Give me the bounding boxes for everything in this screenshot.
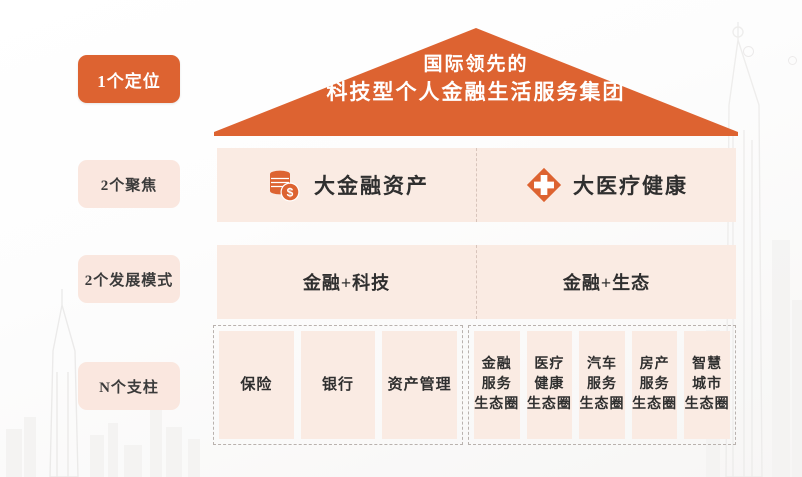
pillar-group-core-business: 保险 银行 资产管理 bbox=[213, 325, 463, 445]
pillar-label: 银行 bbox=[322, 375, 354, 395]
focus-cell-health-care[interactable]: 大医疗健康 bbox=[477, 148, 736, 222]
pillar-banking[interactable]: 银行 bbox=[301, 331, 376, 439]
sidebar-tag-label: 2个聚焦 bbox=[101, 174, 158, 195]
sparkle-dot-2 bbox=[788, 56, 797, 65]
pillar-financial-services-ecosystem[interactable]: 金融 服务 生态圈 bbox=[474, 331, 520, 439]
sidebar-tag-label: 2个发展模式 bbox=[85, 269, 174, 290]
pillar-label: 智慧 城市 生态圈 bbox=[685, 355, 730, 416]
mode-cell-fintech[interactable]: 金融+科技 bbox=[217, 245, 477, 319]
strategy-house-diagram: 1个定位 2个聚焦 2个发展模式 N个支柱 国际领先的 科技型个人金融生活服务集… bbox=[0, 0, 802, 477]
medical-cross-icon bbox=[525, 166, 563, 204]
svg-text:$: $ bbox=[287, 186, 294, 200]
sidebar-tag-label: 1个定位 bbox=[97, 67, 161, 92]
sparkle-dot-1 bbox=[743, 46, 754, 57]
pillar-health-care-ecosystem[interactable]: 医疗 健康 生态圈 bbox=[527, 331, 573, 439]
mode-label-ecosystem: 金融+生态 bbox=[563, 269, 650, 295]
pillar-label: 汽车 服务 生态圈 bbox=[579, 355, 624, 416]
pillar-label: 医疗 健康 生态圈 bbox=[527, 355, 572, 416]
sidebar-tag-label: N个支柱 bbox=[99, 376, 159, 397]
focus-row: $ 大金融资产 大医疗健康 bbox=[217, 148, 736, 222]
coin-stack-dollar-icon: $ bbox=[264, 165, 304, 205]
roof-triangle bbox=[214, 28, 738, 136]
focus-label-financial-assets: 大金融资产 bbox=[314, 170, 429, 200]
pillar-smart-city-ecosystem[interactable]: 智慧 城市 生态圈 bbox=[684, 331, 730, 439]
mode-label-fintech: 金融+科技 bbox=[303, 269, 390, 295]
pillar-label: 保险 bbox=[240, 375, 272, 395]
sidebar-tag-positioning[interactable]: 1个定位 bbox=[78, 55, 180, 103]
sidebar-tag-focus[interactable]: 2个聚焦 bbox=[78, 160, 180, 208]
sidebar-tag-development-modes[interactable]: 2个发展模式 bbox=[78, 255, 180, 303]
pillar-real-estate-ecosystem[interactable]: 房产 服务 生态圈 bbox=[632, 331, 678, 439]
pillar-label: 房产 服务 生态圈 bbox=[632, 355, 677, 416]
pillar-label: 金融 服务 生态圈 bbox=[474, 355, 519, 416]
pillar-group-ecosystems: 金融 服务 生态圈 医疗 健康 生态圈 汽车 服务 生态圈 房产 服务 生态圈 … bbox=[468, 325, 736, 445]
pillar-asset-management[interactable]: 资产管理 bbox=[382, 331, 457, 439]
focus-cell-financial-assets[interactable]: $ 大金融资产 bbox=[217, 148, 477, 222]
pillar-insurance[interactable]: 保险 bbox=[219, 331, 294, 439]
development-mode-row: 金融+科技 金融+生态 bbox=[217, 245, 736, 319]
pillar-label: 资产管理 bbox=[388, 375, 452, 395]
pillar-auto-services-ecosystem[interactable]: 汽车 服务 生态圈 bbox=[579, 331, 625, 439]
focus-label-health-care: 大医疗健康 bbox=[573, 170, 688, 200]
sidebar-tag-pillars[interactable]: N个支柱 bbox=[78, 362, 180, 410]
mode-cell-ecosystem[interactable]: 金融+生态 bbox=[477, 245, 736, 319]
